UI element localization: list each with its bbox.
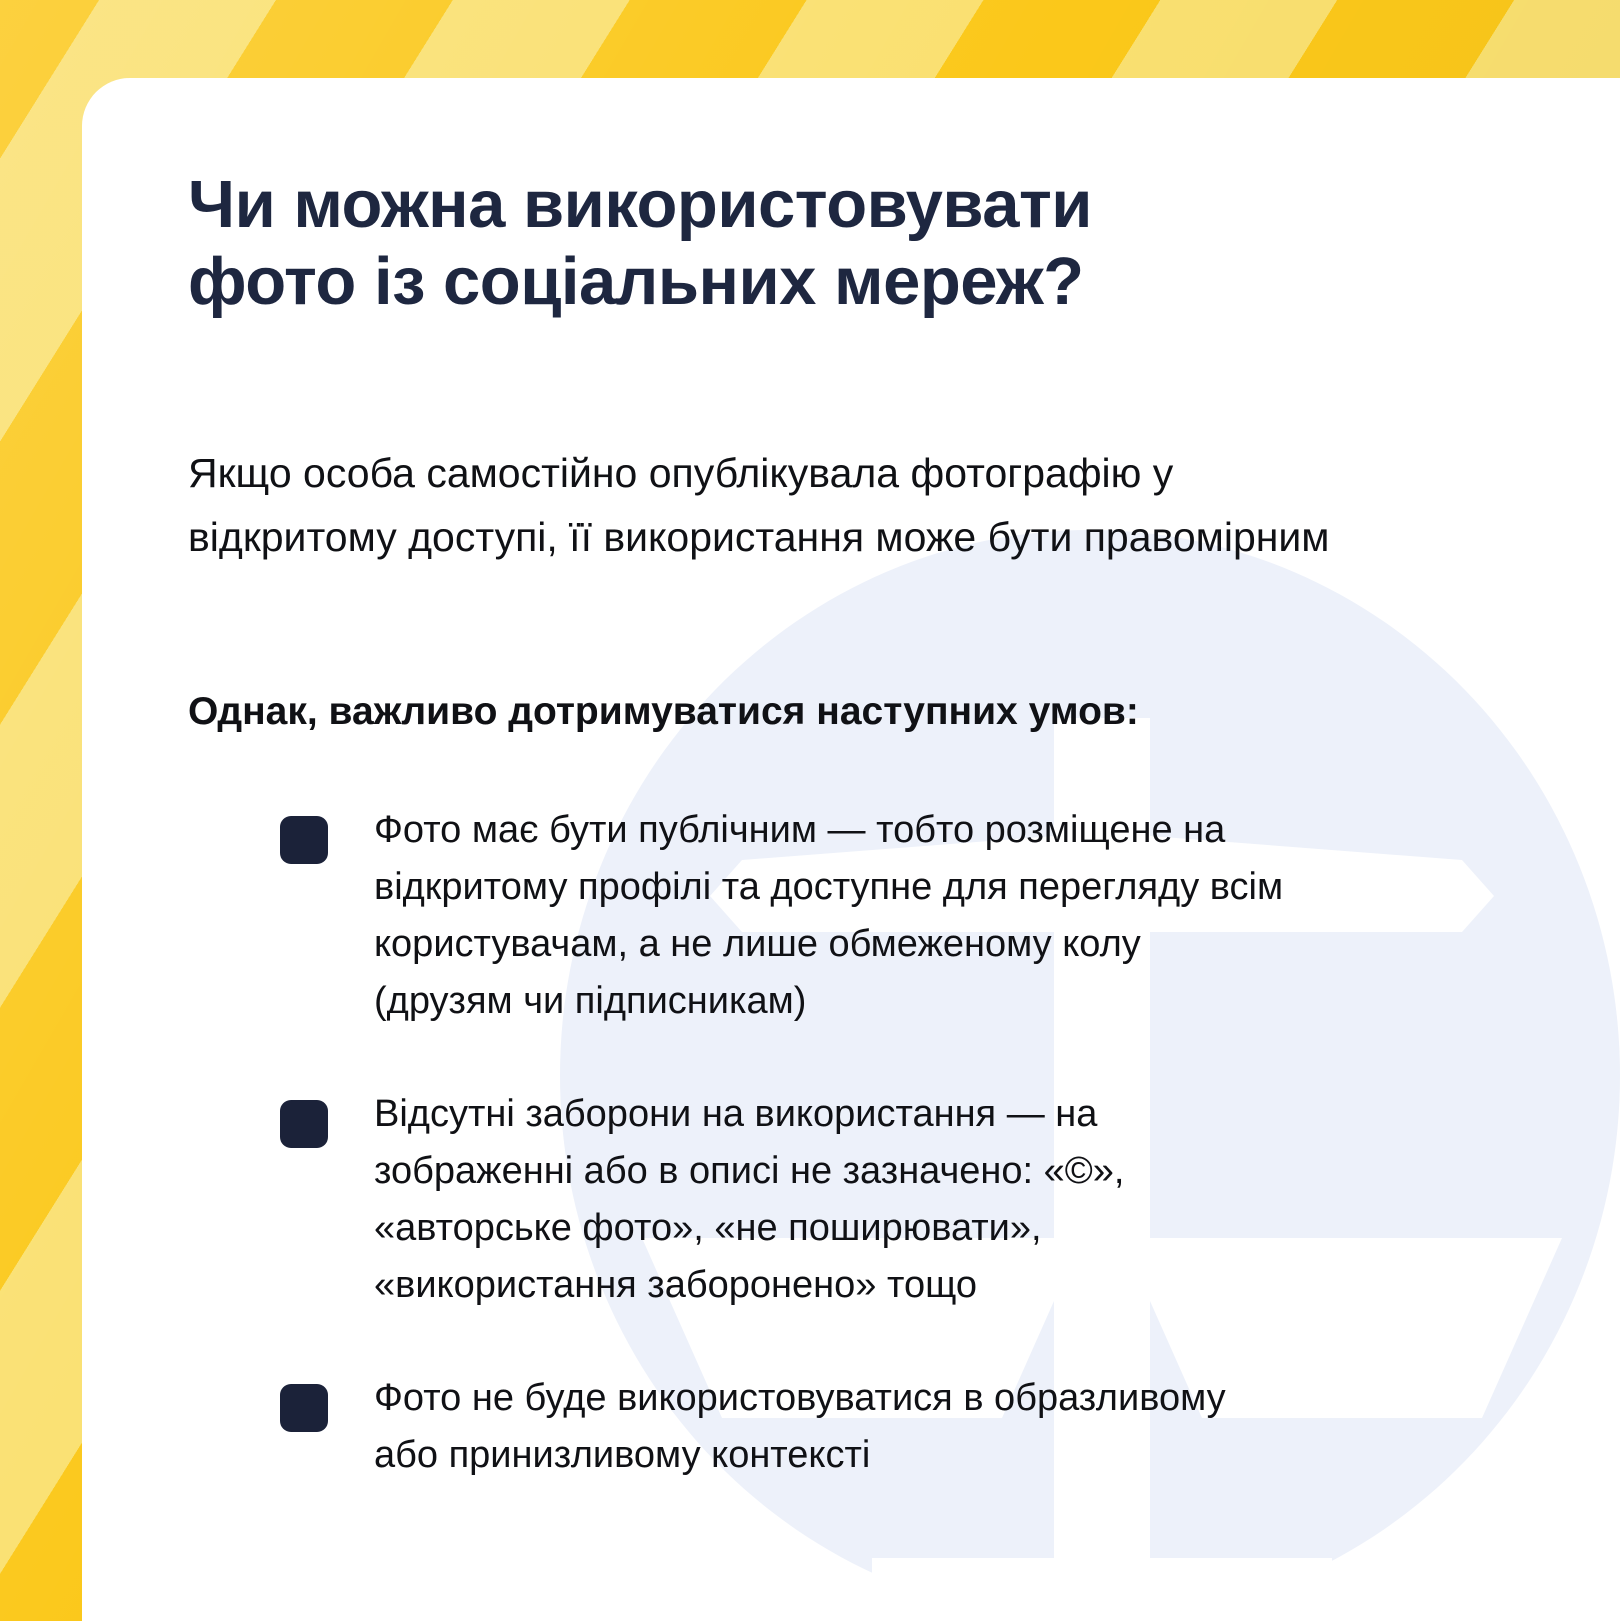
bullet-square-icon xyxy=(280,1384,328,1432)
infographic-canvas: Чи можна використовувати фото із соціаль… xyxy=(0,0,1620,1621)
bullet-square-icon xyxy=(280,816,328,864)
condition-public-photo-text: Фото має бути публічним — тобто розміщен… xyxy=(374,802,1384,1030)
condition-no-offensive-context-text: Фото не буде використовуватися в образли… xyxy=(374,1370,1384,1484)
content-card: Чи можна використовувати фото із соціаль… xyxy=(82,78,1620,1621)
condition-no-restrictions-text: Відсутні заборони на використання — на з… xyxy=(374,1086,1384,1314)
list-item: Фото має бути публічним — тобто розміщен… xyxy=(188,802,1528,1030)
page-title: Чи можна використовувати фото із соціаль… xyxy=(188,166,1528,320)
list-item: Відсутні заборони на використання — на з… xyxy=(188,1086,1528,1314)
conditions-heading: Однак, важливо дотримуватися наступних у… xyxy=(188,569,1528,738)
bullet-square-icon xyxy=(280,1100,328,1148)
card-content: Чи можна використовувати фото із соціаль… xyxy=(188,166,1528,1484)
list-item: Фото не буде використовуватися в образли… xyxy=(188,1370,1528,1484)
lede-paragraph: Якщо особа самостійно опублікувала фотог… xyxy=(188,320,1528,569)
conditions-list: Фото має бути публічним — тобто розміщен… xyxy=(188,738,1528,1484)
